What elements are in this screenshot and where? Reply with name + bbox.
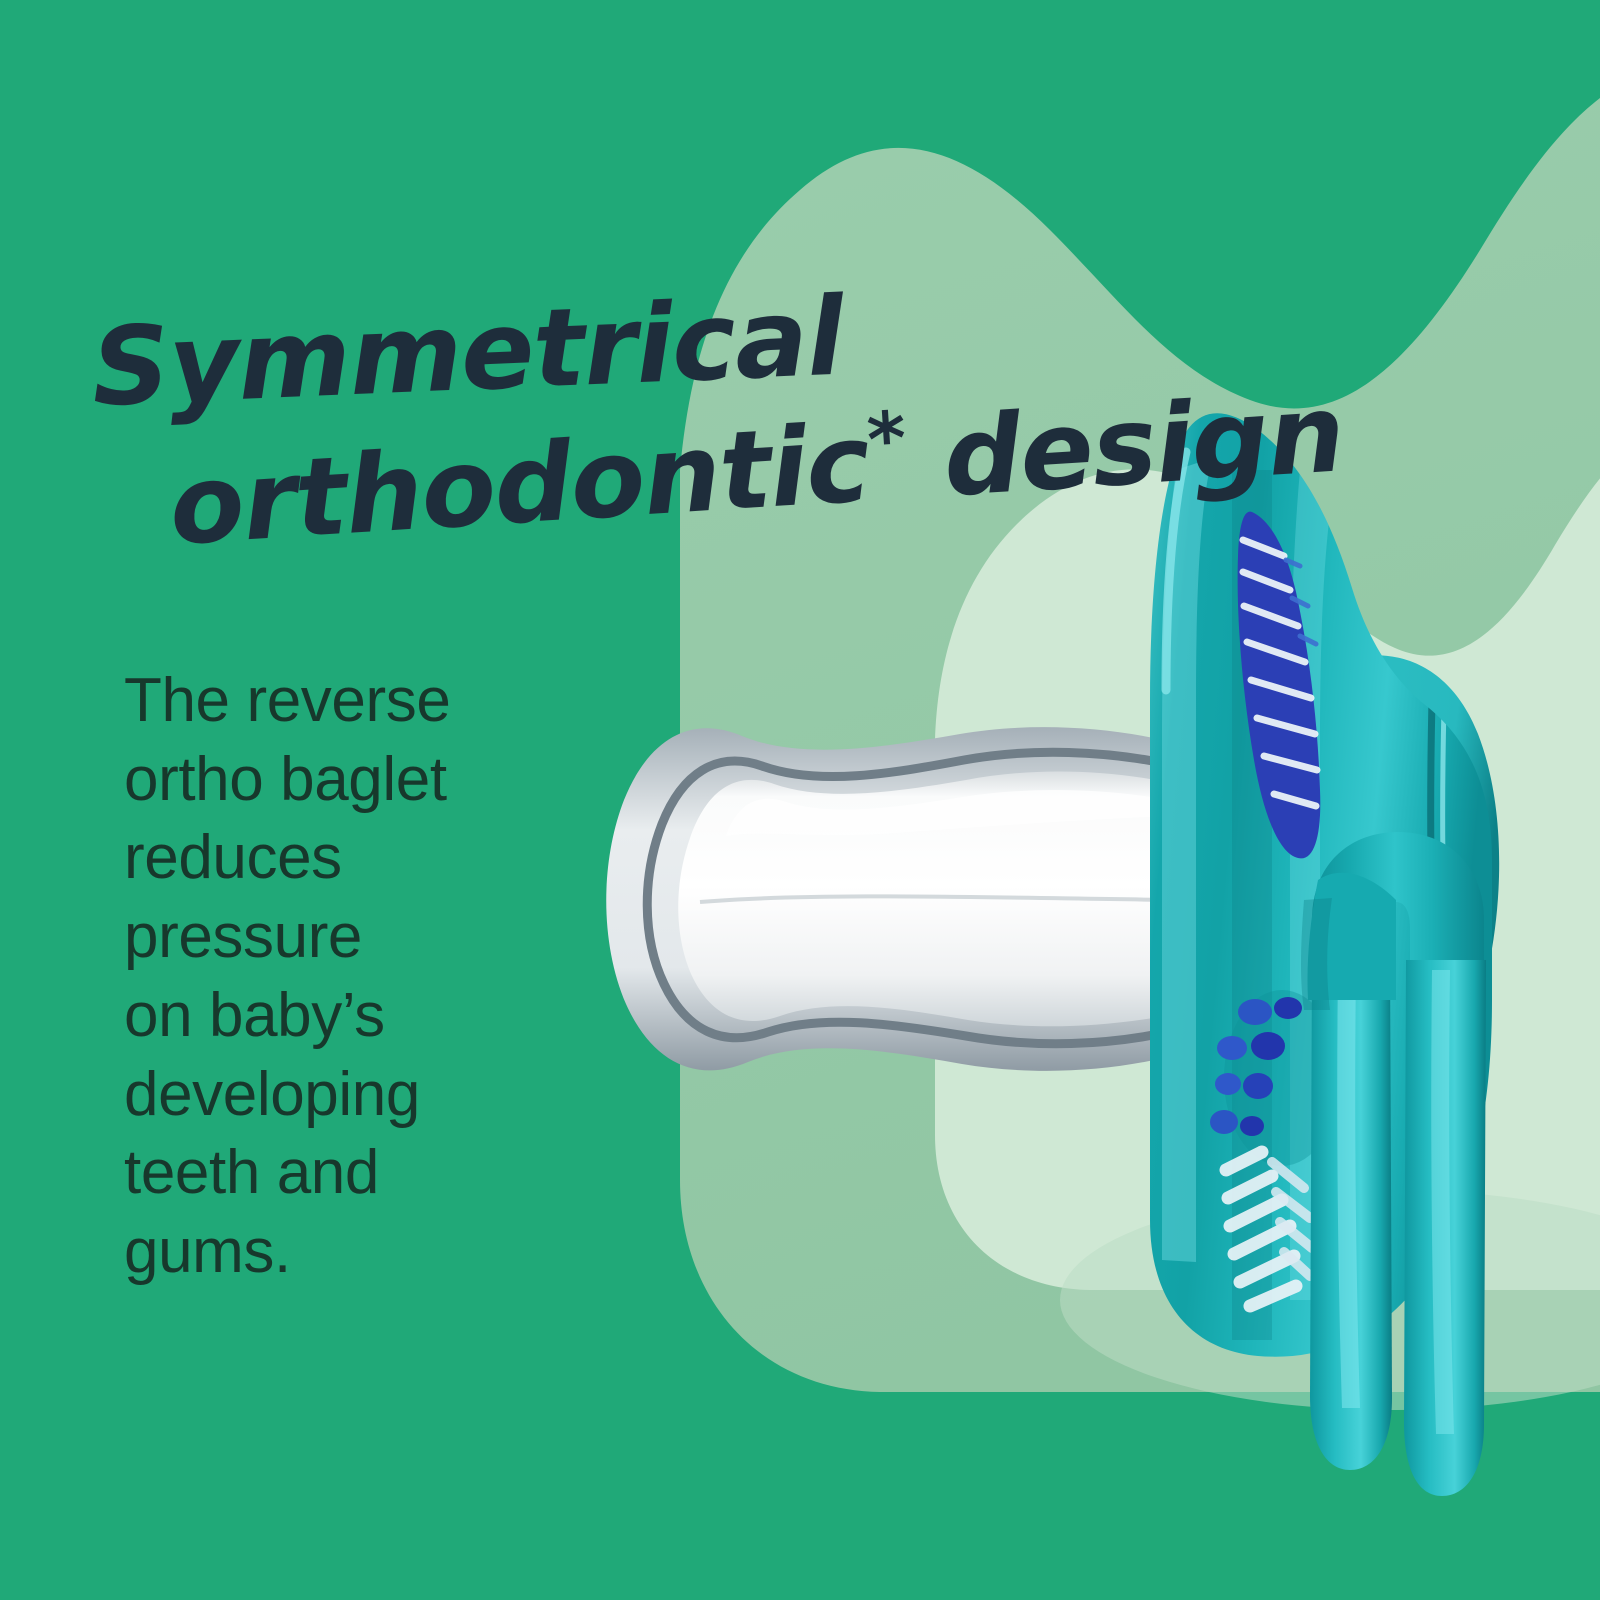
product-feature-card: Symmetrical orthodontic* design The reve… [0, 0, 1600, 1600]
headline-asterisk: * [865, 396, 909, 484]
body-line: ortho baglet [124, 745, 447, 814]
page-title: Symmetrical orthodontic* design [84, 292, 1144, 585]
body-line: on baby’s [124, 981, 385, 1050]
headline-line-2-word: orthodontic [166, 402, 873, 571]
body-line: developing [124, 1060, 420, 1129]
copy-layer: Symmetrical orthodontic* design The reve… [0, 0, 1600, 1600]
headline-line-2-tail: design [940, 372, 1347, 522]
body-paragraph: The reverse ortho baglet reduces pressur… [124, 662, 554, 1292]
body-line: The reverse [124, 666, 450, 735]
body-line: gums. [124, 1217, 291, 1286]
body-line: pressure [124, 902, 362, 971]
body-line: reduces [124, 823, 342, 892]
body-line: teeth and [124, 1138, 379, 1207]
